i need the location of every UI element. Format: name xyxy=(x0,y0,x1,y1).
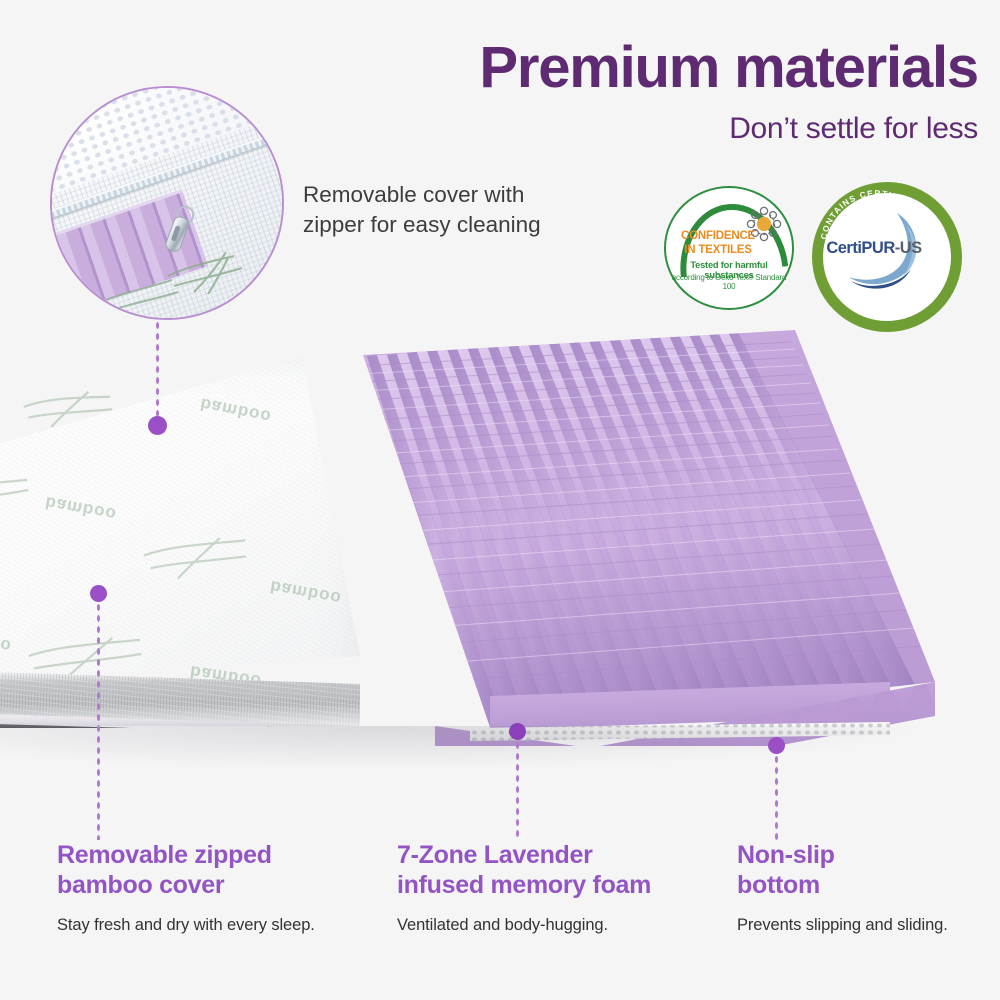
inset-callout-text: Removable cover with zipper for easy cle… xyxy=(303,180,603,239)
infographic-canvas: Premium materials Don’t settle for less xyxy=(0,0,1000,1000)
oeko-title: CONFIDENCE IN TEXTILES xyxy=(666,230,770,257)
feature-foam: 7-Zone Lavender infused memory foam Vent… xyxy=(397,840,727,935)
oeko-standard-text: according to Oeko-Tex® Standard 100 xyxy=(666,273,792,291)
certipur-us-badge: CONTAINS CERTIFIED FLEXIBLE POLYURETHANE… xyxy=(812,182,962,332)
connector-dot-inset xyxy=(148,416,167,435)
feature-foam-title-line1: 7-Zone Lavender xyxy=(397,841,593,869)
feature-foam-description: Ventilated and body-hugging. xyxy=(397,916,727,935)
feature-nonslip-title-line2: bottom xyxy=(737,871,820,899)
connector-line-inset xyxy=(155,320,160,420)
connector-line-foam xyxy=(515,740,520,840)
feature-cover-title-line2: bamboo cover xyxy=(57,871,224,899)
feature-foam-title: 7-Zone Lavender infused memory foam xyxy=(397,840,727,900)
bamboo-leaf-icon xyxy=(17,379,117,438)
product-drop-shadow xyxy=(0,726,930,770)
certipur-wordmark-grey: -US xyxy=(895,239,922,257)
connector-line-cover xyxy=(96,602,101,840)
feature-cover-title-line1: Removable zipped xyxy=(57,841,272,869)
feature-foam-title-line2: infused memory foam xyxy=(397,871,651,899)
inset-photo xyxy=(52,88,282,318)
feature-captions: Removable zipped bamboo cover Stay fresh… xyxy=(0,840,1000,980)
feature-cover-title: Removable zipped bamboo cover xyxy=(57,840,357,900)
certipur-wordmark: CertiPUR-US xyxy=(819,239,929,258)
feature-nonslip-title: Non-slip bottom xyxy=(737,840,987,900)
feature-nonslip-title-line1: Non-slip xyxy=(737,841,835,869)
callout-line-1: Removable cover with xyxy=(303,180,603,210)
oeko-title-line1: CONFIDENCE xyxy=(681,230,755,242)
connector-dot-cover xyxy=(90,585,107,602)
product-image: bamboo bamboo bamboo bamboo bamboo xyxy=(0,330,970,770)
bamboo-leaf-icon xyxy=(138,525,252,586)
oeko-title-line2: IN TEXTILES xyxy=(684,244,751,256)
feature-cover: Removable zipped bamboo cover Stay fresh… xyxy=(57,840,357,935)
connector-dot-foam xyxy=(509,723,526,740)
feature-cover-description: Stay fresh and dry with every sleep. xyxy=(57,916,357,935)
bamboo-leaf-icon xyxy=(104,266,184,316)
certipur-wordmark-blue: CertiPUR xyxy=(826,239,894,257)
zipper-closeup-inset xyxy=(50,86,284,320)
foam-egg-crate-texture xyxy=(315,330,935,730)
callout-line-2: zipper for easy cleaning xyxy=(303,210,603,240)
connector-line-nonslip xyxy=(774,754,779,840)
feature-nonslip: Non-slip bottom Prevents slipping and sl… xyxy=(737,840,987,935)
connector-dot-nonslip xyxy=(768,737,785,754)
feature-nonslip-description: Prevents slipping and sliding. xyxy=(737,916,987,935)
bamboo-leaf-icon xyxy=(0,466,32,516)
oeko-tex-badge: CONFIDENCE IN TEXTILES Tested for harmfu… xyxy=(664,186,794,310)
certification-badges: CONFIDENCE IN TEXTILES Tested for harmfu… xyxy=(664,182,984,310)
